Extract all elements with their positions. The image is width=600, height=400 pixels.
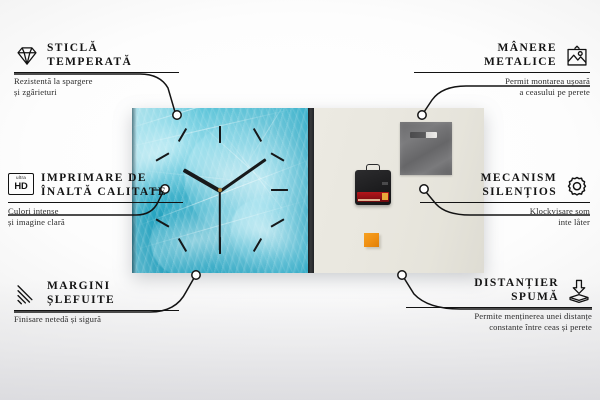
feature-subtitle: Culori intense și imagine clară bbox=[8, 206, 183, 228]
feature-tempered-glass: STICLĂ TEMPERATĂ Rezistentă la spargere … bbox=[14, 42, 179, 98]
feature-subtitle: Rezistentă la spargere și zgârieturi bbox=[14, 76, 179, 98]
feature-title: DISTANȚIER SPUMĂ bbox=[474, 277, 559, 304]
feature-divider bbox=[8, 202, 183, 203]
feature-metal-hooks: MÂNERE METALICE Permit montarea ușoară a… bbox=[414, 42, 590, 98]
feature-silent-mechanism: MECANISM SILENȚIOS Klockvisare som inte … bbox=[420, 172, 590, 228]
feature-title: IMPRIMARE DE ÎNALTĂ CALITATE bbox=[41, 172, 167, 199]
feature-subtitle: Permit montarea ușoară a ceasului pe per… bbox=[414, 76, 590, 98]
gear-icon bbox=[564, 173, 590, 199]
feature-title: MECANISM SILENȚIOS bbox=[481, 172, 557, 199]
feature-high-quality-print: ultra HD IMPRIMARE DE ÎNALTĂ CALITATE Cu… bbox=[8, 172, 183, 228]
feature-divider bbox=[406, 307, 592, 308]
feature-polished-edges: MARGINI ȘLEFUITE Finisare netedă și sigu… bbox=[14, 280, 179, 325]
feature-divider bbox=[414, 72, 590, 73]
feature-title: MÂNERE METALICE bbox=[484, 42, 557, 69]
ultra-hd-icon: ultra HD bbox=[8, 173, 34, 199]
feature-subtitle: Permite menținerea unei distanțe constan… bbox=[406, 311, 592, 333]
picture-hanger-icon bbox=[564, 43, 590, 69]
feature-foam-spacer: DISTANȚIER SPUMĂ Permite menținerea unei… bbox=[406, 277, 592, 333]
feature-divider bbox=[420, 202, 590, 203]
feature-title: STICLĂ TEMPERATĂ bbox=[47, 42, 132, 69]
feature-subtitle: Finisare netedă și sigură bbox=[14, 314, 179, 325]
feature-divider bbox=[14, 310, 179, 311]
feature-subtitle: Klockvisare som inte låter bbox=[420, 206, 590, 228]
down-arrow-pad-icon bbox=[566, 278, 592, 304]
infographic-canvas: STICLĂ TEMPERATĂ Rezistentă la spargere … bbox=[0, 0, 600, 400]
feature-divider bbox=[14, 72, 179, 73]
hatched-edge-icon bbox=[14, 281, 40, 307]
diamond-icon bbox=[14, 43, 40, 69]
feature-title: MARGINI ȘLEFUITE bbox=[47, 280, 115, 307]
